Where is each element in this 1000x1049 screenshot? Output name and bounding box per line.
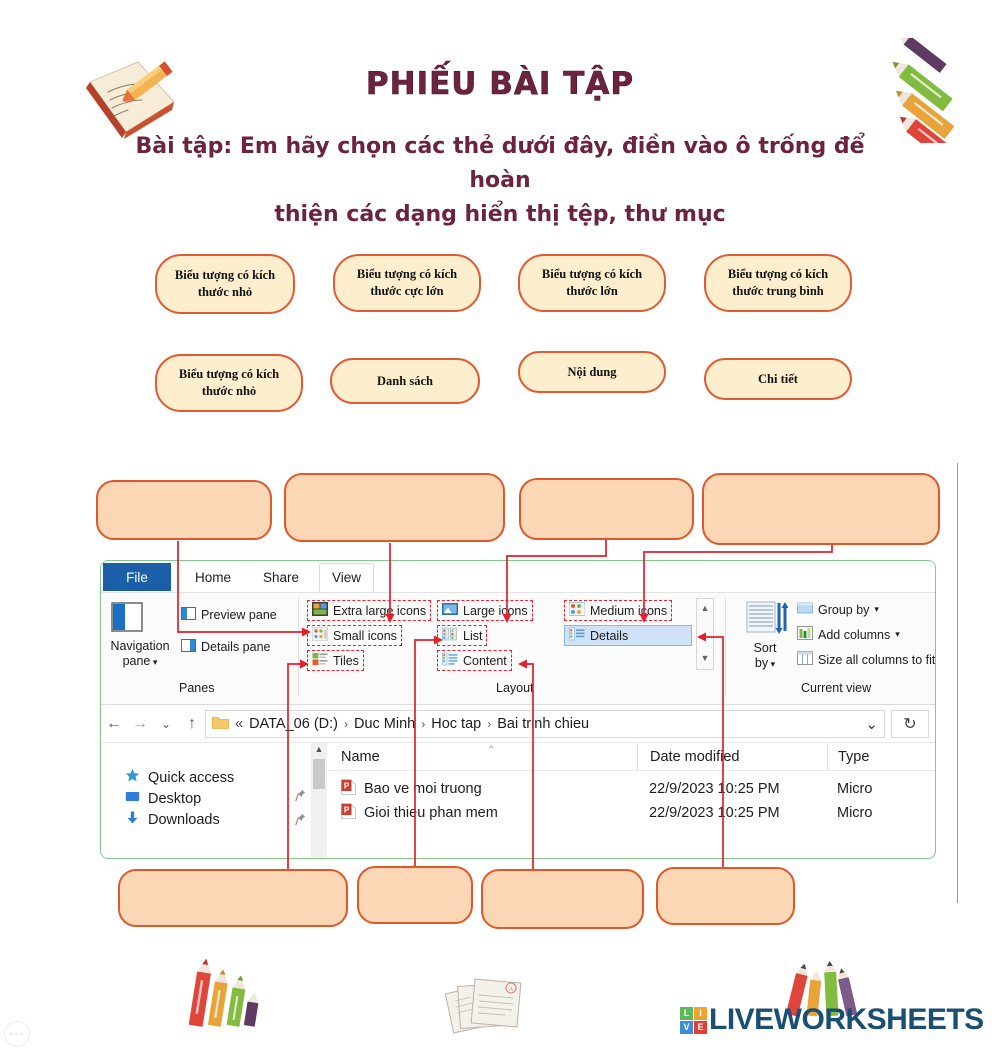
navigation-pane-label[interactable]: Navigation pane ▾ [103, 639, 177, 670]
group-divider-1 [298, 597, 299, 697]
pin-icon-2[interactable] [289, 807, 311, 831]
ribbon-list[interactable]: List [437, 625, 487, 646]
list-label: List [463, 629, 482, 643]
medium-icons-label: Medium icons [590, 604, 667, 618]
pencils-art-bottom-left [185, 958, 275, 1038]
gallery-scroll-down-icon[interactable]: ▼ [697, 613, 713, 663]
add-columns-label: Add columns [818, 628, 890, 642]
gallery-scroll-up-icon[interactable]: ▲ [697, 599, 713, 613]
content-icon [442, 652, 458, 669]
ribbon-tab-strip: File Home Share View [101, 561, 935, 593]
worksheet-page: PHIẾU BÀI TẬP Bài tập: Em hãy chọn các t… [0, 0, 1000, 1049]
liveworksheets-logo[interactable]: L I V E LIVEWORKSHEETS [680, 1003, 984, 1037]
group-by-label: Group by [818, 603, 869, 617]
logo-cell-v: V [680, 1021, 693, 1034]
logo-cell-l: L [680, 1007, 693, 1020]
pin-column [289, 743, 311, 858]
group-label-layout: Layout [496, 681, 534, 695]
large-icons-label: Large icons [463, 604, 528, 618]
address-dropdown-chevron-icon[interactable]: ⌄ [865, 715, 878, 733]
recent-locations-button[interactable]: ⌄ [153, 717, 179, 731]
column-header-date-label: Date modified [650, 749, 739, 765]
nav-pane-line2: pane [123, 654, 151, 668]
ribbon-medium-icons[interactable]: Medium icons [564, 600, 672, 621]
tag-chip-4[interactable]: Biểu tượng có kích thước trung bình [704, 254, 852, 312]
path-breadcrumb-bar[interactable]: « DATA_06 (D:) › Duc Minh › Hoc tap › Ba… [205, 710, 885, 738]
documents-stack-art: A [445, 975, 535, 1037]
breadcrumb-item-2[interactable]: Hoc tap [431, 716, 481, 732]
sidebar-label-desktop: Desktop [148, 791, 201, 807]
svg-text:P: P [344, 805, 350, 814]
add-columns-icon [797, 626, 813, 643]
details-pane-label: Details pane [201, 640, 271, 654]
logo-cell-e: E [694, 1021, 707, 1034]
tag-chip-6[interactable]: Danh sách [330, 358, 480, 404]
table-row[interactable]: P Gioi thieu phan mem 22/9/2023 10:25 PM… [327, 801, 935, 825]
breadcrumb-item-1[interactable]: Duc Minh [354, 716, 415, 732]
tiles-icon [312, 652, 328, 669]
medium-icons-icon [569, 602, 585, 619]
file-name-cell[interactable]: P Gioi thieu phan mem [327, 803, 637, 823]
sidebar-item-downloads[interactable]: Downloads [101, 809, 289, 830]
file-date-cell: 22/9/2023 10:25 PM [637, 781, 827, 797]
ribbon-add-columns[interactable]: Add columns ▾ [797, 626, 900, 643]
column-header-date-modified[interactable]: Date modified [637, 743, 827, 770]
table-row[interactable]: P Bao ve moi truong 22/9/2023 10:25 PM M… [327, 777, 935, 801]
forward-button[interactable]: → [127, 715, 153, 733]
answer-box-top-4[interactable] [702, 473, 940, 545]
nav-pane-line1: Navigation [110, 639, 169, 653]
large-icons-icon [442, 602, 458, 619]
content-label: Content [463, 654, 507, 668]
ribbon-small-icons[interactable]: Small icons [307, 625, 402, 646]
breadcrumb-item-3[interactable]: Bai trinh chieu [497, 716, 589, 732]
answer-box-bottom-3[interactable] [481, 869, 644, 929]
tiles-label: Tiles [333, 654, 359, 668]
breadcrumb-sep-1: › [421, 717, 425, 731]
breadcrumb-sep-2: › [487, 717, 491, 731]
group-divider-2 [725, 597, 726, 697]
path-collapse-chevron[interactable]: « [235, 716, 243, 732]
tag-chip-8[interactable]: Chi tiết [704, 358, 852, 400]
layout-gallery-scrollbar[interactable]: ▲ ▼ [696, 598, 714, 670]
tab-share[interactable]: Share [251, 563, 311, 592]
details-pane-icon [181, 639, 196, 655]
file-explorer-window: File Home Share View Navigation pane ▾ [100, 560, 936, 859]
file-type-cell: Micro [827, 805, 917, 821]
ribbon-body: Navigation pane ▾ Preview pane Details p… [101, 593, 935, 705]
column-header-type-label: Type [838, 749, 869, 765]
tag-chip-2[interactable]: Biểu tượng có kích thước cực lớn [333, 254, 481, 312]
answer-box-top-1[interactable] [96, 480, 272, 540]
details-label: Details [590, 629, 628, 643]
sidebar-item-quick-access[interactable]: Quick access [101, 767, 289, 788]
file-list: Name ⌃ Date modified Type P [327, 743, 935, 858]
tab-home[interactable]: Home [183, 563, 243, 592]
column-header-name[interactable]: Name ⌃ [327, 743, 637, 770]
group-by-icon [797, 601, 813, 618]
breadcrumb-item-0[interactable]: DATA_06 (D:) [249, 716, 338, 732]
answer-box-bottom-1[interactable] [118, 869, 348, 927]
tag-chip-5[interactable]: Biểu tượng có kích thước nhỏ [155, 354, 303, 412]
vertical-scrollbar[interactable]: ▲ [311, 743, 327, 858]
size-all-columns-label: Size all columns to fit [818, 653, 935, 667]
address-bar: ← → ⌄ ↑ « DATA_06 (D:) › Duc Minh › Hoc … [101, 705, 935, 743]
sidebar-label-downloads: Downloads [148, 812, 220, 828]
page-instruction: Bài tập: Em hãy chọn các thẻ dưới đây, đ… [110, 130, 890, 232]
ribbon-content[interactable]: Content [437, 650, 512, 671]
ribbon-tiles[interactable]: Tiles [307, 650, 364, 671]
group-label-current-view: Current view [801, 681, 871, 695]
answer-box-bottom-4[interactable] [656, 867, 795, 925]
file-name-label: Bao ve moi truong [364, 781, 482, 797]
column-header-row: Name ⌃ Date modified Type [327, 743, 935, 771]
sort-by-icon[interactable] [746, 601, 788, 642]
logo-cell-i: I [694, 1007, 707, 1020]
sidebar-label-quick-access: Quick access [148, 770, 234, 786]
folder-icon [212, 715, 229, 733]
page-title: PHIẾU BÀI TẬP [0, 66, 1000, 102]
answer-box-bottom-2[interactable] [357, 866, 473, 924]
navigation-pane: Quick access Desktop Downloads [101, 743, 289, 858]
group-by-chevron-icon[interactable]: ▾ [874, 604, 879, 615]
list-icon [442, 627, 458, 644]
answer-box-top-2[interactable] [284, 473, 505, 542]
back-button[interactable]: ← [101, 715, 127, 733]
logo-wordmark: LIVEWORKSHEETS [709, 1003, 984, 1037]
sidebar-item-desktop[interactable]: Desktop [101, 788, 289, 809]
pin-icon-1[interactable] [289, 783, 311, 807]
ribbon-extra-large-icons[interactable]: Extra large icons [307, 600, 431, 621]
ribbon-size-all-columns[interactable]: Size all columns to fit [797, 651, 935, 668]
powerpoint-file-icon: P [341, 803, 356, 823]
tab-view[interactable]: View [319, 563, 374, 592]
tab-file[interactable]: File [103, 563, 171, 591]
scrollbar-thumb[interactable] [313, 759, 325, 789]
ribbon-large-icons[interactable]: Large icons [437, 600, 533, 621]
group-label-panes: Panes [179, 681, 214, 695]
instruction-line-1: Bài tập: Em hãy chọn các thẻ dưới đây, đ… [110, 130, 890, 198]
file-type-cell: Micro [827, 781, 917, 797]
ribbon-group-by[interactable]: Group by ▾ [797, 601, 879, 618]
tag-chip-3[interactable]: Biểu tượng có kích thước lớn [518, 254, 666, 312]
monitor-icon [125, 789, 140, 808]
scroll-up-arrow-icon[interactable]: ▲ [315, 743, 324, 755]
preview-pane-icon [181, 607, 196, 623]
svg-text:A: A [509, 987, 514, 993]
sort-ascending-icon: ⌃ [487, 745, 495, 756]
small-icons-icon [312, 627, 328, 644]
instruction-line-2: thiện các dạng hiển thị tệp, thư mục [110, 198, 890, 232]
answer-box-top-3[interactable] [519, 478, 694, 540]
page-right-rule [957, 463, 958, 903]
extra-large-icons-label: Extra large icons [333, 604, 426, 618]
breadcrumb-sep-0: › [344, 717, 348, 731]
sort-by-line1: Sort [754, 641, 777, 655]
file-date-cell: 22/9/2023 10:25 PM [637, 805, 827, 821]
add-columns-chevron-icon[interactable]: ▾ [895, 629, 900, 640]
tag-chip-1[interactable]: Biểu tượng có kích thước nhỏ [155, 254, 295, 314]
navigation-pane-icon[interactable] [107, 601, 147, 639]
file-name-cell[interactable]: P Bao ve moi truong [327, 779, 637, 799]
powerpoint-file-icon: P [341, 779, 356, 799]
small-icons-label: Small icons [333, 629, 397, 643]
refresh-button[interactable]: ↻ [891, 710, 929, 738]
star-icon [125, 768, 140, 787]
details-icon [569, 627, 585, 644]
download-icon [125, 810, 140, 829]
preview-pane-label: Preview pane [201, 608, 277, 622]
sort-by-line2: by [755, 656, 768, 670]
ribbon-details[interactable]: Details [564, 625, 692, 646]
sort-by-label[interactable]: Sort by ▾ [741, 641, 789, 672]
ribbon-preview-pane[interactable]: Preview pane [181, 607, 277, 623]
corner-options-icon[interactable]: ••• [4, 1021, 30, 1047]
svg-text:P: P [344, 781, 350, 790]
extra-large-icons-icon [312, 602, 328, 619]
ribbon-details-pane[interactable]: Details pane [181, 639, 271, 655]
column-header-name-label: Name [341, 749, 380, 765]
size-all-columns-icon [797, 651, 813, 668]
file-name-label: Gioi thieu phan mem [364, 805, 498, 821]
tag-chip-7[interactable]: Nội dung [518, 351, 666, 393]
column-header-type[interactable]: Type [827, 743, 917, 770]
explorer-content: Quick access Desktop Downloads [101, 743, 935, 858]
up-button[interactable]: ↑ [179, 715, 205, 733]
logo-letter-grid: L I V E [680, 1007, 707, 1034]
